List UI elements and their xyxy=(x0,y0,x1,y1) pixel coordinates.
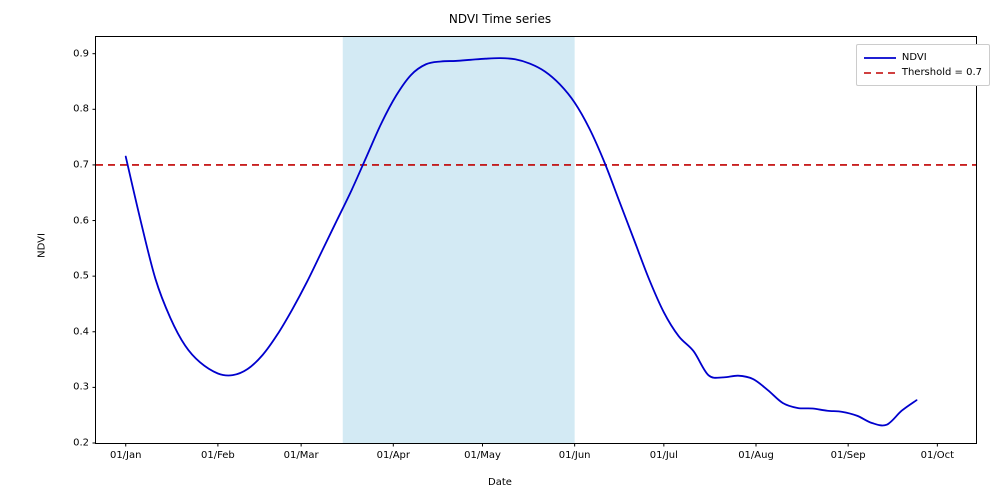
y-tick-label: 0.7 xyxy=(61,159,89,170)
threshold-line-swatch xyxy=(864,68,896,78)
x-tick-label: 01/Apr xyxy=(377,450,410,461)
plot-area xyxy=(95,36,977,444)
legend-label-threshold: Thershold = 0.7 xyxy=(902,67,982,78)
x-tick-label: 01/Jun xyxy=(559,450,591,461)
x-tick-label: 01/Jan xyxy=(110,450,142,461)
y-axis-label: NDVI xyxy=(37,196,48,296)
ndvi-line-swatch xyxy=(864,53,896,63)
x-tick-label: 01/Mar xyxy=(284,450,319,461)
legend-label-ndvi: NDVI xyxy=(902,52,927,63)
chart-legend: NDVI Thershold = 0.7 xyxy=(856,44,990,86)
y-tick-label: 0.3 xyxy=(61,382,89,393)
y-tick-label: 0.2 xyxy=(61,438,89,449)
y-tick-label: 0.4 xyxy=(61,326,89,337)
x-tick-label: 01/May xyxy=(464,450,501,461)
legend-item-threshold: Thershold = 0.7 xyxy=(864,65,982,80)
plot-svg xyxy=(96,37,976,443)
y-tick-label: 0.9 xyxy=(61,48,89,59)
y-tick-label: 0.5 xyxy=(61,271,89,282)
x-tick-label: 01/Aug xyxy=(738,450,774,461)
chart-title: NDVI Time series xyxy=(0,12,1000,26)
legend-item-ndvi: NDVI xyxy=(864,50,982,65)
x-tick-label: 01/Sep xyxy=(831,450,866,461)
x-tick-label: 01/Oct xyxy=(921,450,954,461)
y-tick-label: 0.6 xyxy=(61,215,89,226)
x-axis-label: Date xyxy=(0,477,1000,488)
x-tick-label: 01/Feb xyxy=(201,450,235,461)
y-tick-label: 0.8 xyxy=(61,104,89,115)
chart-figure: NDVI Time series 01/Jan01/Feb01/Mar01/Ap… xyxy=(0,0,1000,500)
x-tick-label: 01/Jul xyxy=(650,450,678,461)
shaded-region xyxy=(343,37,575,443)
